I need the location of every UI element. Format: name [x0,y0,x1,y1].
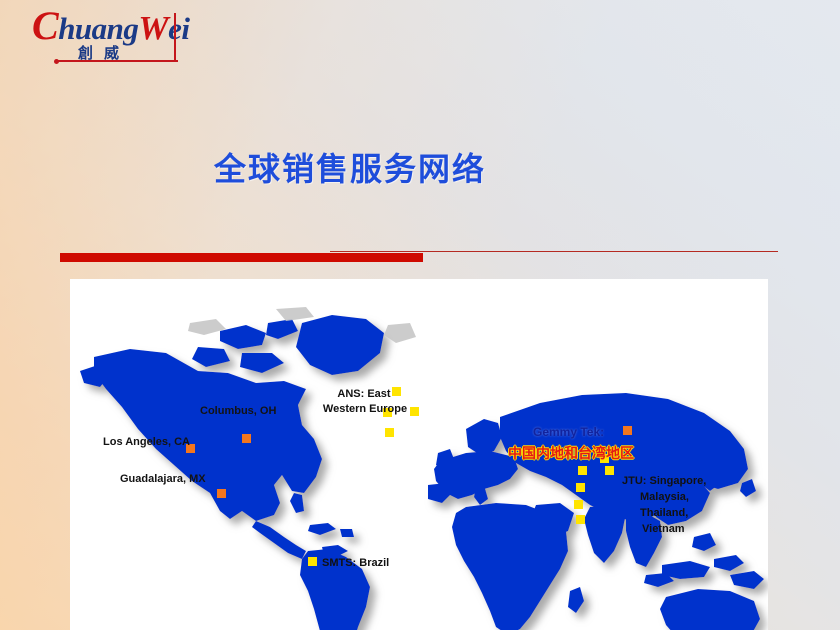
marker-france[interactable] [385,428,394,437]
title-thin-rule [330,251,778,252]
map-label-jtu-line4: Vietnam [642,522,685,537]
marker-columbus[interactable] [242,434,251,443]
map-label-columbus: Columbus, OH [200,404,276,419]
slide-canvas: ChuangWei 創威 全球销售服务网络 [0,0,840,630]
logo-dot [54,59,59,64]
logo-letter-w: W [138,10,168,47]
map-label-gemmy-tek: Gemmy Tek: [533,425,604,440]
logo-letter-c: C [32,3,58,48]
marker-vietnam[interactable] [574,500,583,509]
world-map-panel: Columbus, OH Los Angeles, CA Guadalajara… [70,279,768,630]
title-accent-bar [60,253,423,262]
marker-guadalajara[interactable] [217,489,226,498]
map-label-los-angeles: Los Angeles, CA [103,435,190,450]
marker-china-south[interactable] [605,466,614,475]
map-label-ans-line1: ANS: East [309,387,419,402]
map-label-jtu-line2: Malaysia, [640,490,689,505]
map-label-ans-line2: Western Europe [300,402,430,417]
page-title: 全球销售服务网络 [214,144,840,190]
logo-horizontal-rule [58,60,178,62]
map-label-smts-brazil: SMTS: Brazil [322,556,389,571]
marker-shenzhen[interactable] [576,483,585,492]
logo-vertical-rule [174,13,176,61]
marker-malaysia[interactable] [576,515,585,524]
map-label-guadalajara: Guadalajara, MX [120,472,206,487]
marker-brazil[interactable] [308,557,317,566]
map-label-jtu-line1: JTU: Singapore, [622,474,706,489]
logo-word-ei: ei [168,11,189,46]
map-label-jtu-line3: Thailand, [640,506,688,521]
marker-korea[interactable] [623,426,632,435]
company-logo: ChuangWei 創威 [28,8,186,68]
world-map-graphic [70,279,768,630]
map-label-china-region: 中国内地和台湾地区 [508,447,634,462]
marker-china-east[interactable] [578,466,587,475]
logo-word-huang: huang [58,11,138,46]
